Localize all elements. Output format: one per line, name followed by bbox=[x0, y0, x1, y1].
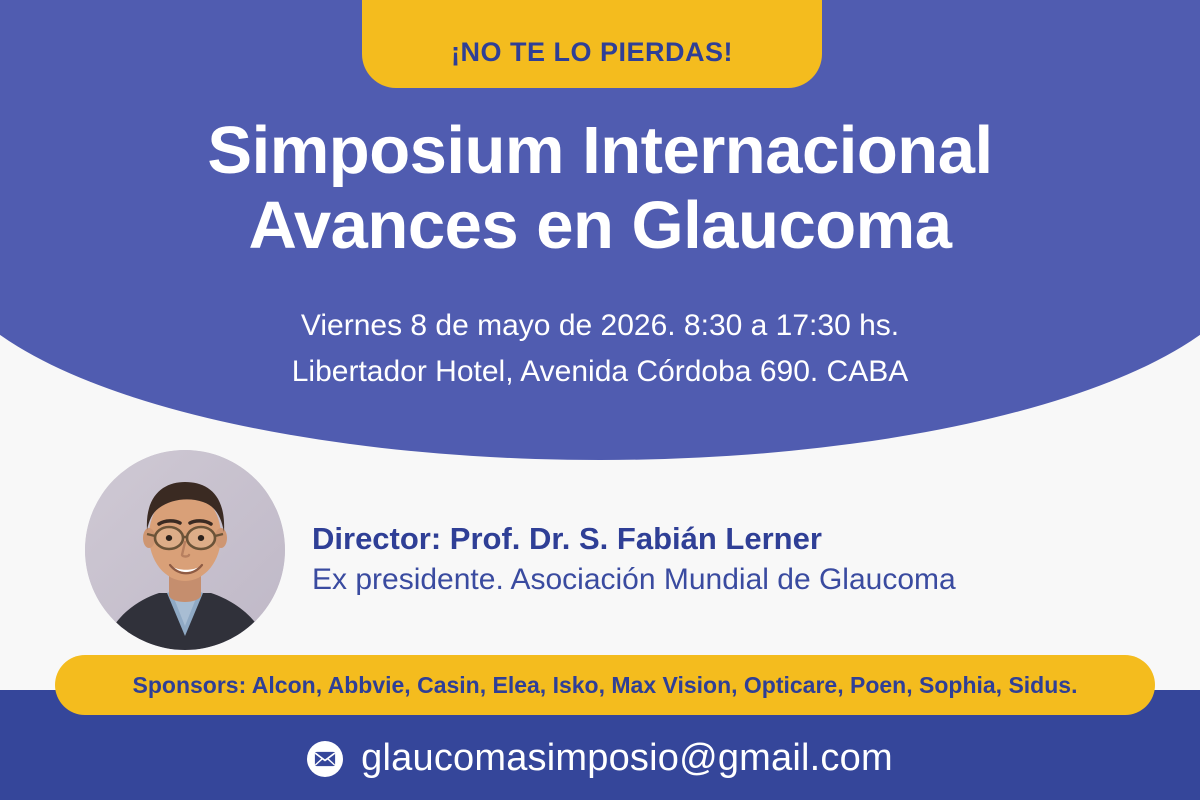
director-portrait bbox=[85, 450, 285, 650]
event-date-time: Viernes 8 de mayo de 2026. 8:30 a 17:30 … bbox=[0, 303, 1200, 349]
event-title: Simposium Internacional Avances en Glauc… bbox=[0, 113, 1200, 263]
director-name: Director: Prof. Dr. S. Fabián Lerner bbox=[312, 518, 956, 560]
event-details: Viernes 8 de mayo de 2026. 8:30 a 17:30 … bbox=[0, 303, 1200, 394]
contact-row[interactable]: glaucomasimposio@gmail.com bbox=[0, 737, 1200, 780]
event-title-line-1: Simposium Internacional bbox=[0, 113, 1200, 188]
director-role: Ex presidente. Asociación Mundial de Gla… bbox=[312, 560, 956, 600]
event-flyer: ¡NO TE LO PIERDAS! Simposium Internacion… bbox=[0, 0, 1200, 800]
envelope-icon bbox=[307, 741, 343, 777]
event-venue: Libertador Hotel, Avenida Córdoba 690. C… bbox=[0, 349, 1200, 395]
contact-email[interactable]: glaucomasimposio@gmail.com bbox=[361, 737, 893, 780]
attention-banner: ¡NO TE LO PIERDAS! bbox=[362, 0, 822, 88]
attention-banner-text: ¡NO TE LO PIERDAS! bbox=[451, 37, 733, 68]
event-title-line-2: Avances en Glaucoma bbox=[0, 188, 1200, 263]
sponsors-text: Sponsors: Alcon, Abbvie, Casin, Elea, Is… bbox=[133, 672, 1078, 699]
sponsors-bar: Sponsors: Alcon, Abbvie, Casin, Elea, Is… bbox=[55, 655, 1155, 715]
director-info: Director: Prof. Dr. S. Fabián Lerner Ex … bbox=[312, 518, 956, 600]
